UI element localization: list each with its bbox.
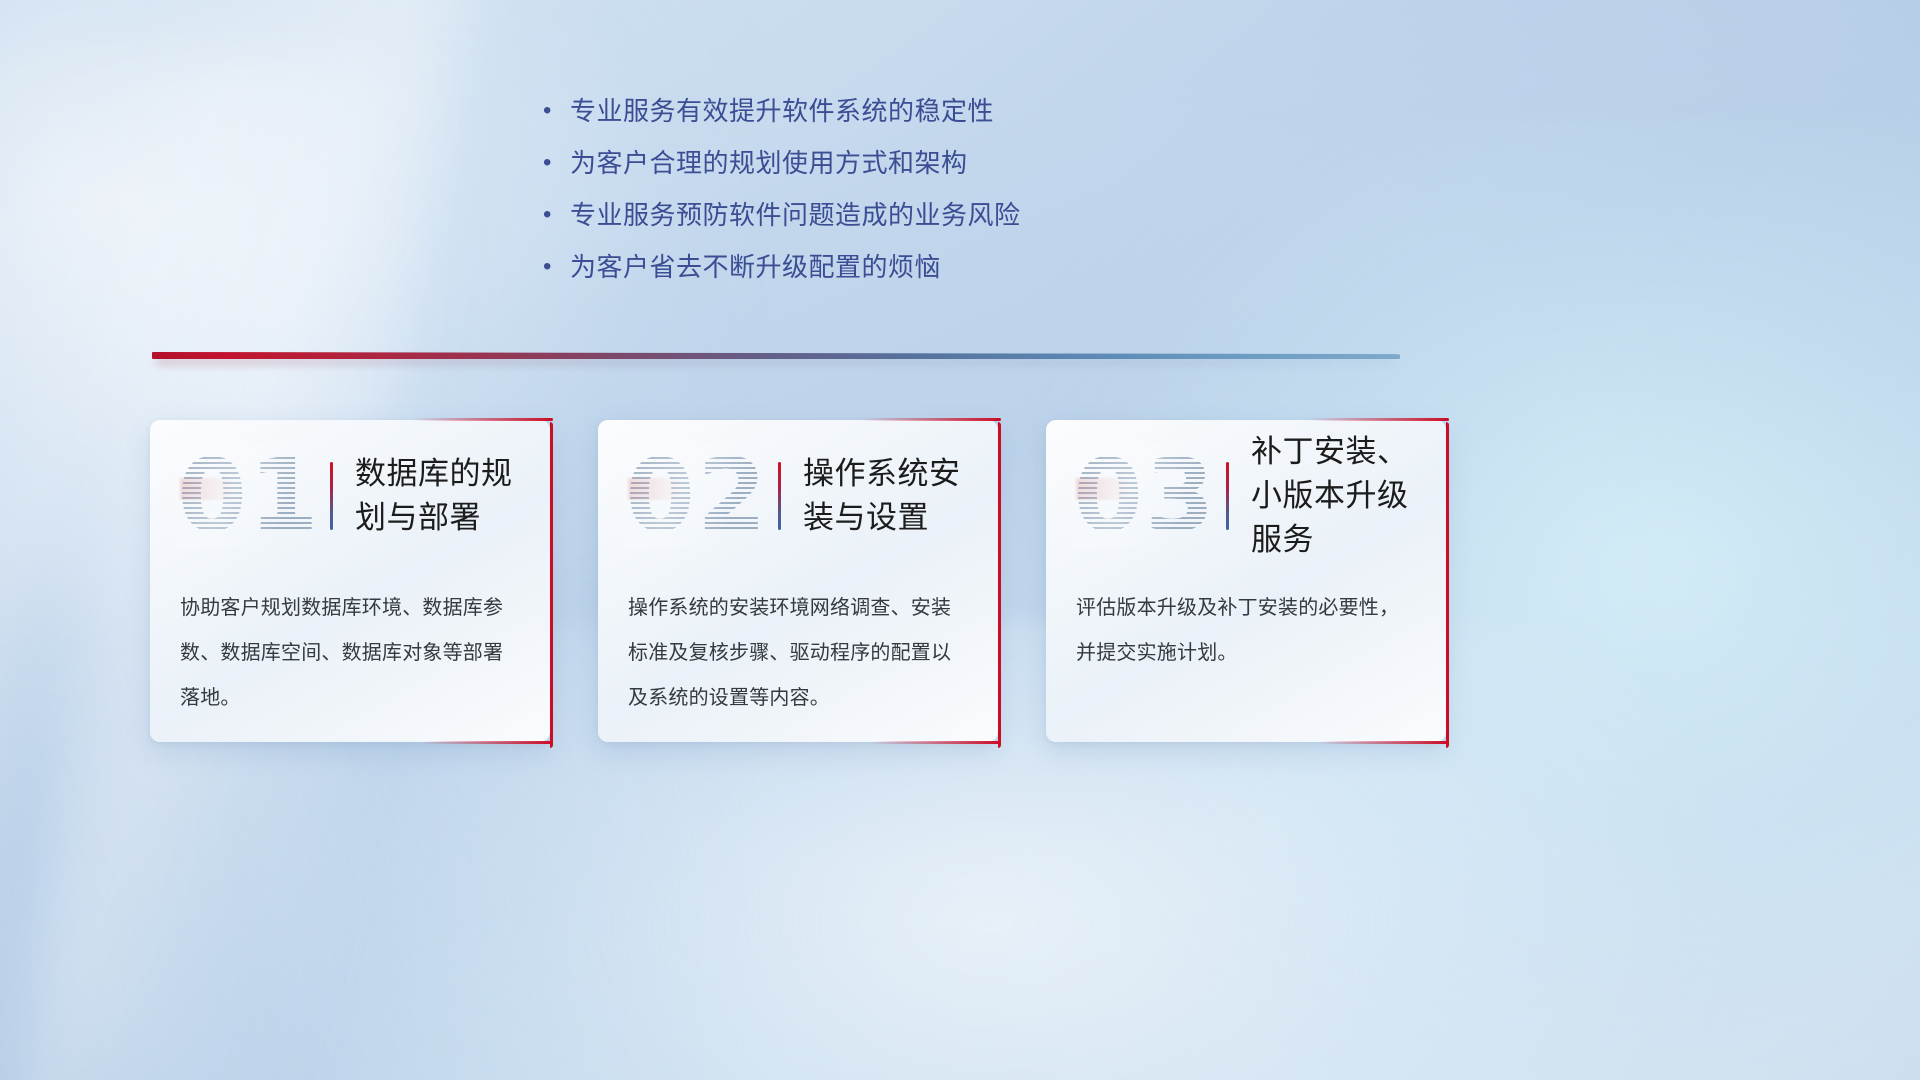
slide-root: • 专业服务有效提升软件系统的稳定性 • 为客户合理的规划使用方式和架构 • 专… xyxy=(0,0,1920,1080)
bullet-text: 为客户省去不断升级配置的烦恼 xyxy=(570,248,941,286)
card-accent-bar xyxy=(778,462,781,530)
card-number-watermark: 01 xyxy=(174,442,324,550)
benefits-bullet-list: • 专业服务有效提升软件系统的稳定性 • 为客户合理的规划使用方式和架构 • 专… xyxy=(540,92,1160,300)
card-red-edge xyxy=(998,422,1001,748)
divider-shadow xyxy=(156,359,1392,365)
list-item: • 专业服务预防软件问题造成的业务风险 xyxy=(540,196,1160,248)
card-body-text: 评估版本升级及补丁安装的必要性，并提交实施计划。 xyxy=(1046,572,1446,676)
bullet-dot-icon: • xyxy=(540,248,570,286)
service-card-group: 01 数据库的规划与部署 协助客户规划数据库环境、数据库参数、数据库空间、数据库… xyxy=(150,420,1450,742)
list-item: • 为客户合理的规划使用方式和架构 xyxy=(540,144,1160,196)
card-title: 操作系统安装与设置 xyxy=(803,452,972,540)
card-title: 补丁安装、小版本升级服务 xyxy=(1251,430,1420,562)
card-number-watermark: 03 xyxy=(1070,442,1220,550)
card-red-edge-bottom xyxy=(423,741,553,744)
card-accent-bar xyxy=(330,462,333,530)
card-header: 02 操作系统安装与设置 xyxy=(598,420,998,572)
card-red-edge-bottom xyxy=(871,741,1001,744)
bullet-dot-icon: • xyxy=(540,196,570,234)
card-red-edge-bottom xyxy=(1319,741,1449,744)
service-card-01[interactable]: 01 数据库的规划与部署 协助客户规划数据库环境、数据库参数、数据库空间、数据库… xyxy=(150,420,550,742)
card-red-edge xyxy=(550,422,553,748)
service-card-03[interactable]: 03 补丁安装、小版本升级服务 评估版本升级及补丁安装的必要性，并提交实施计划。 xyxy=(1046,420,1446,742)
bullet-dot-icon: • xyxy=(540,92,570,130)
divider-bar xyxy=(152,352,1400,359)
list-item: • 专业服务有效提升软件系统的稳定性 xyxy=(540,92,1160,144)
card-accent-bar xyxy=(1226,462,1229,530)
card-title: 数据库的规划与部署 xyxy=(355,452,524,540)
service-card-02[interactable]: 02 操作系统安装与设置 操作系统的安装环境网络调查、安装标准及复核步骤、驱动程… xyxy=(598,420,998,742)
section-divider xyxy=(152,348,1400,364)
bullet-dot-icon: • xyxy=(540,144,570,182)
card-body-text: 协助客户规划数据库环境、数据库参数、数据库空间、数据库对象等部署落地。 xyxy=(150,572,550,721)
list-item: • 为客户省去不断升级配置的烦恼 xyxy=(540,248,1160,300)
card-red-edge xyxy=(1446,422,1449,748)
card-number-watermark: 02 xyxy=(622,442,772,550)
card-header: 03 补丁安装、小版本升级服务 xyxy=(1046,420,1446,572)
bullet-text: 为客户合理的规划使用方式和架构 xyxy=(570,144,968,182)
card-body-text: 操作系统的安装环境网络调查、安装标准及复核步骤、驱动程序的配置以及系统的设置等内… xyxy=(598,572,998,721)
bullet-text: 专业服务预防软件问题造成的业务风险 xyxy=(570,196,1021,234)
card-header: 01 数据库的规划与部署 xyxy=(150,420,550,572)
bullet-text: 专业服务有效提升软件系统的稳定性 xyxy=(570,92,994,130)
